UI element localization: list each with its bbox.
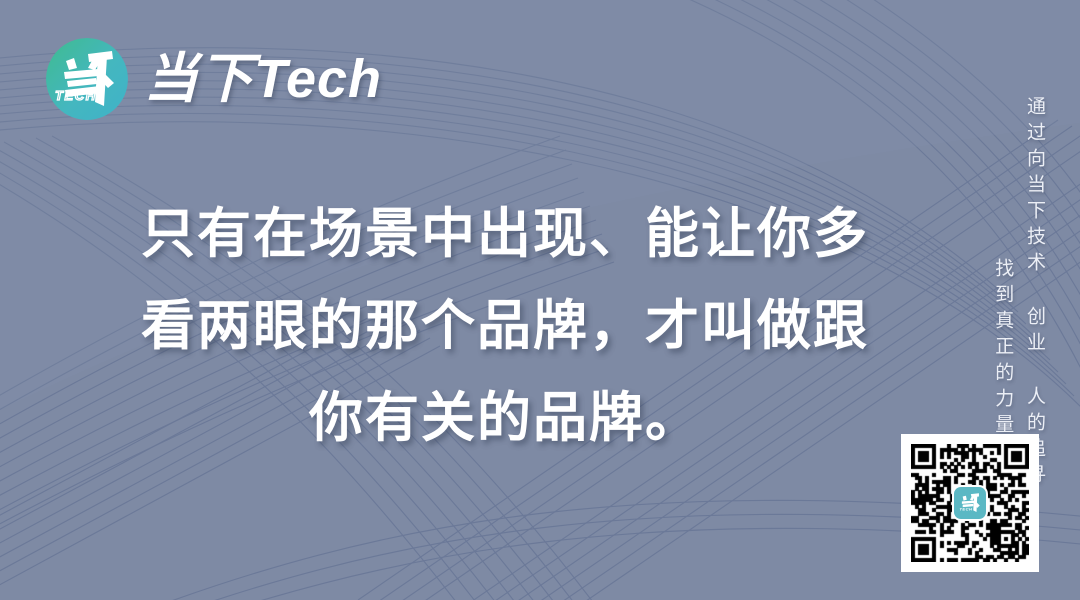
- quote-line-2: 看两眼的那个品牌，才叫做跟: [120, 280, 890, 372]
- qr-center-glyph: TECH: [957, 490, 983, 516]
- logo-badge-svg: TECH: [46, 38, 128, 120]
- logo-badge-sub: TECH: [55, 88, 97, 103]
- qr-code[interactable]: TECH: [901, 434, 1039, 572]
- logo-badge-icon: TECH: [46, 38, 128, 120]
- qr-center-logo-icon: TECH: [954, 487, 986, 519]
- tagline-primary: 通过向当下技术 创业 人的追寻: [1022, 96, 1046, 490]
- poster-canvas: TECH 当下Tech 只有在场景中出现、能让你多 看两眼的那个品牌，才叫做跟 …: [0, 0, 1080, 600]
- quote-block: 只有在场景中出现、能让你多 看两眼的那个品牌，才叫做跟 你有关的品牌。: [120, 188, 890, 464]
- quote-line-1: 只有在场景中出现、能让你多: [120, 188, 890, 280]
- qr-center-sub: TECH: [959, 506, 972, 511]
- vertical-tagline: 找到真正的力量 通过向当下技术 创业 人的追寻: [991, 96, 1047, 490]
- tagline-secondary: 找到真正的力量: [991, 258, 1015, 440]
- brand-wordmark: 当下Tech: [144, 52, 382, 106]
- brand-logo-lockup: TECH 当下Tech: [46, 38, 382, 120]
- quote-line-3: 你有关的品牌。: [120, 372, 890, 464]
